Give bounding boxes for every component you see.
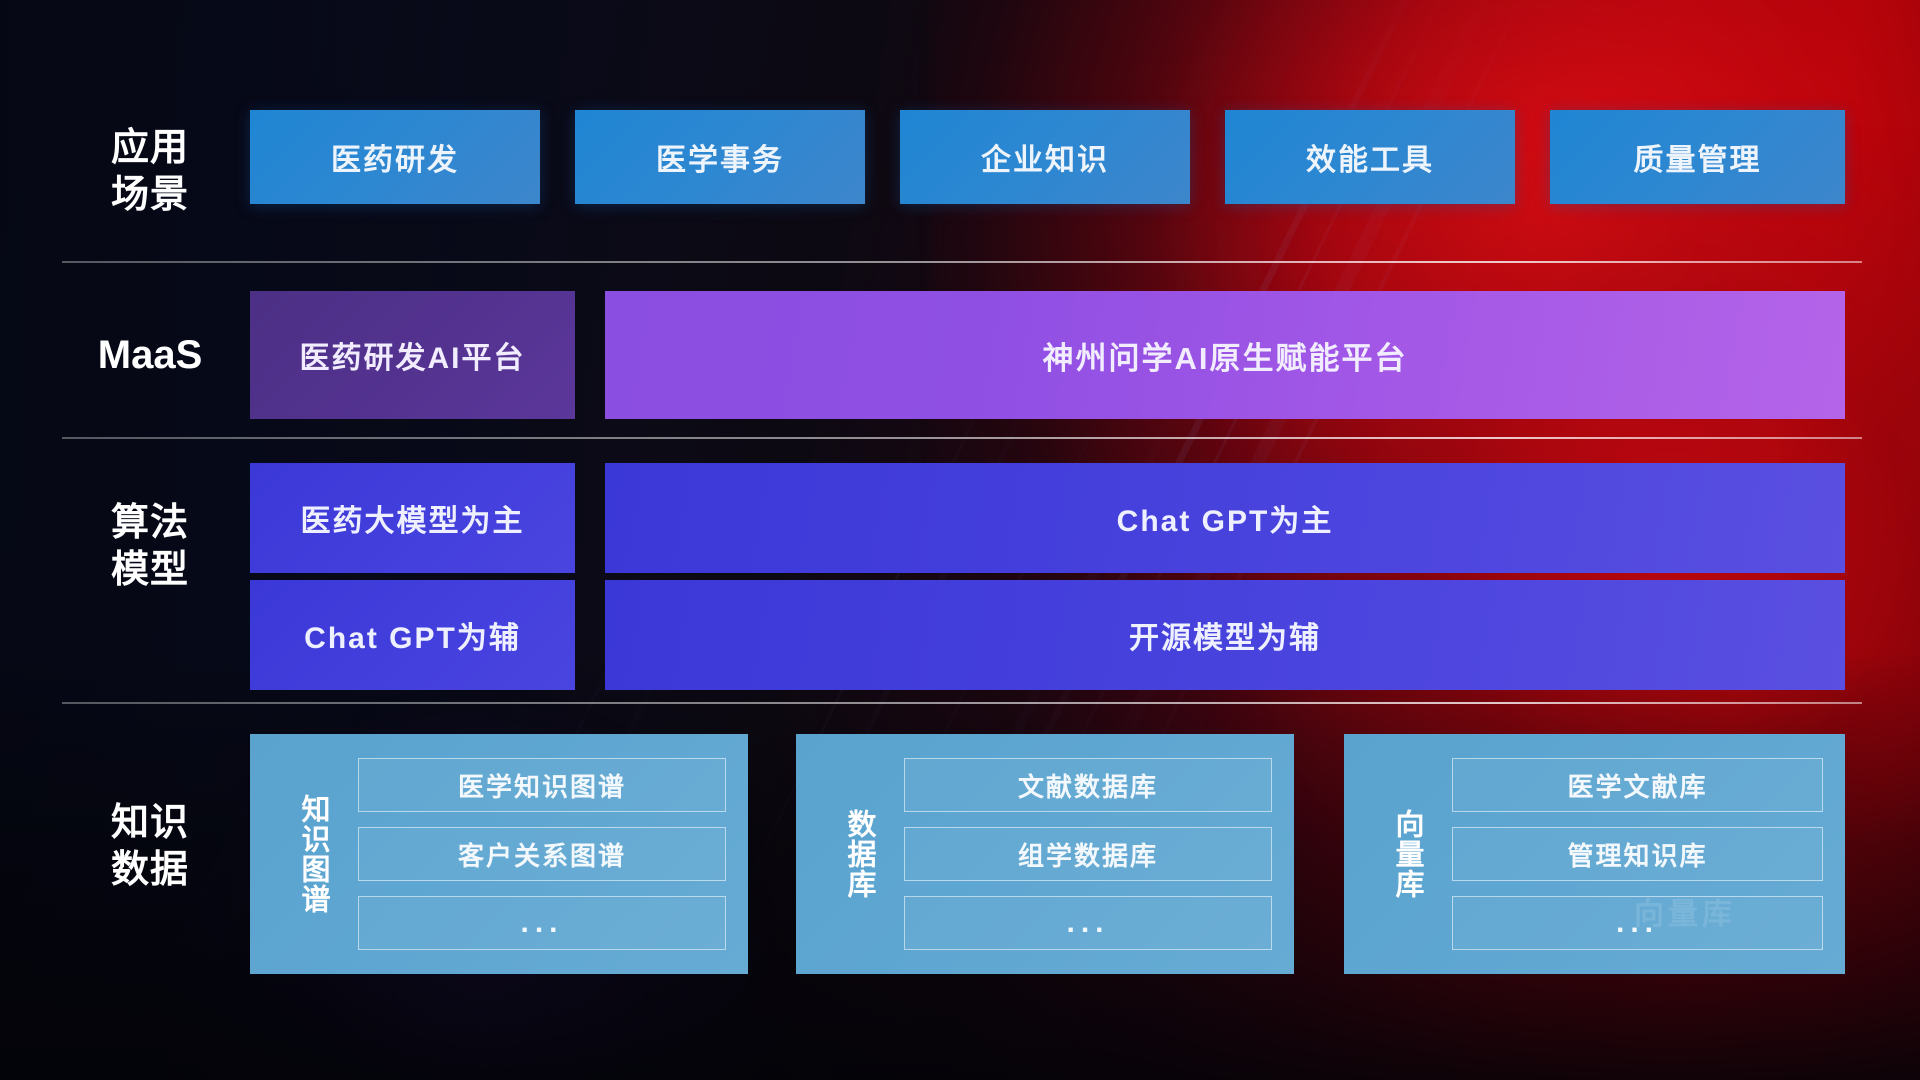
knowledge-item-more[interactable]: ... [904,896,1272,950]
maas-card-medicine-ai-platform[interactable]: 医药研发AI平台 [250,291,575,419]
maas-card-shenzhou-wenxue-platform[interactable]: 神州问学AI原生赋能平台 [605,291,1845,419]
app-card-efficiency-tools[interactable]: 效能工具 [1225,110,1515,204]
app-card-label: 企业知识 [981,135,1109,179]
row-label-application-scenario: 应用 场景 [55,125,245,219]
knowledge-item-list: 医学知识图谱 客户关系图谱 ... [352,758,748,950]
knowledge-item-more[interactable]: ... [358,896,726,950]
knowledge-item[interactable]: 组学数据库 [904,827,1272,881]
row-label-maas: MaaS [55,332,245,379]
algo-card-label: Chat GPT为主 [1117,496,1334,540]
app-card-label: 医药研发 [331,135,459,179]
algo-card-chatgpt-primary[interactable]: Chat GPT为主 [605,463,1845,573]
maas-card-label: 神州问学AI原生赋能平台 [1043,333,1408,378]
app-card-label: 效能工具 [1306,135,1434,179]
knowledge-block-title: 向量库 [1368,734,1446,974]
knowledge-item[interactable]: 管理知识库 [1452,827,1823,881]
knowledge-item-list: 医学文献库 管理知识库 ... [1446,758,1845,950]
app-card-medical-affairs[interactable]: 医学事务 [575,110,865,204]
maas-card-label: 医药研发AI平台 [300,333,526,377]
algo-card-opensource-model-secondary[interactable]: 开源模型为辅 [605,580,1845,690]
app-card-quality-management[interactable]: 质量管理 [1550,110,1845,204]
row-label-line-1: 知识 [55,800,245,847]
knowledge-block-database: 数据库 文献数据库 组学数据库 ... [796,734,1294,974]
row-label-line-1: 应用 [55,125,245,172]
algo-card-label: Chat GPT为辅 [304,613,521,657]
app-card-enterprise-knowledge[interactable]: 企业知识 [900,110,1190,204]
knowledge-item[interactable]: 客户关系图谱 [358,827,726,881]
knowledge-block-title: 数据库 [820,734,898,974]
app-card-label: 质量管理 [1634,135,1762,179]
row-label-line-1: 算法 [55,500,245,547]
row-label-algorithm-model: 算法 模型 [55,500,245,594]
knowledge-item[interactable]: 医学知识图谱 [358,758,726,812]
knowledge-item-list: 文献数据库 组学数据库 ... [898,758,1294,950]
knowledge-item[interactable]: 文献数据库 [904,758,1272,812]
divider-after-application-scenario [62,261,1862,263]
row-label-knowledge-data: 知识 数据 [55,800,245,894]
knowledge-block-knowledge-graph: 知识图谱 医学知识图谱 客户关系图谱 ... [250,734,748,974]
app-card-label: 医学事务 [656,135,784,179]
row-label-line-2: 场景 [55,172,245,219]
knowledge-item-more[interactable]: ... [1452,896,1823,950]
knowledge-block-vector-store: 向量库 医学文献库 管理知识库 ... 向量库 [1344,734,1845,974]
row-label-line-2: 模型 [55,547,245,594]
divider-after-algorithm-model [62,702,1862,704]
algo-card-chatgpt-secondary[interactable]: Chat GPT为辅 [250,580,575,690]
knowledge-block-title: 知识图谱 [274,734,352,974]
row-label-text: MaaS [55,332,245,379]
app-card-medicine-rd[interactable]: 医药研发 [250,110,540,204]
algo-card-medicine-large-model-primary[interactable]: 医药大模型为主 [250,463,575,573]
knowledge-item[interactable]: 医学文献库 [1452,758,1823,812]
algo-card-label: 医药大模型为主 [301,496,525,540]
slide-canvas: 应用 场景 医药研发 医学事务 企业知识 效能工具 质量管理 MaaS 医药研发… [0,0,1920,1080]
row-label-line-2: 数据 [55,847,245,894]
divider-after-maas [62,437,1862,439]
algo-card-label: 开源模型为辅 [1129,613,1321,657]
